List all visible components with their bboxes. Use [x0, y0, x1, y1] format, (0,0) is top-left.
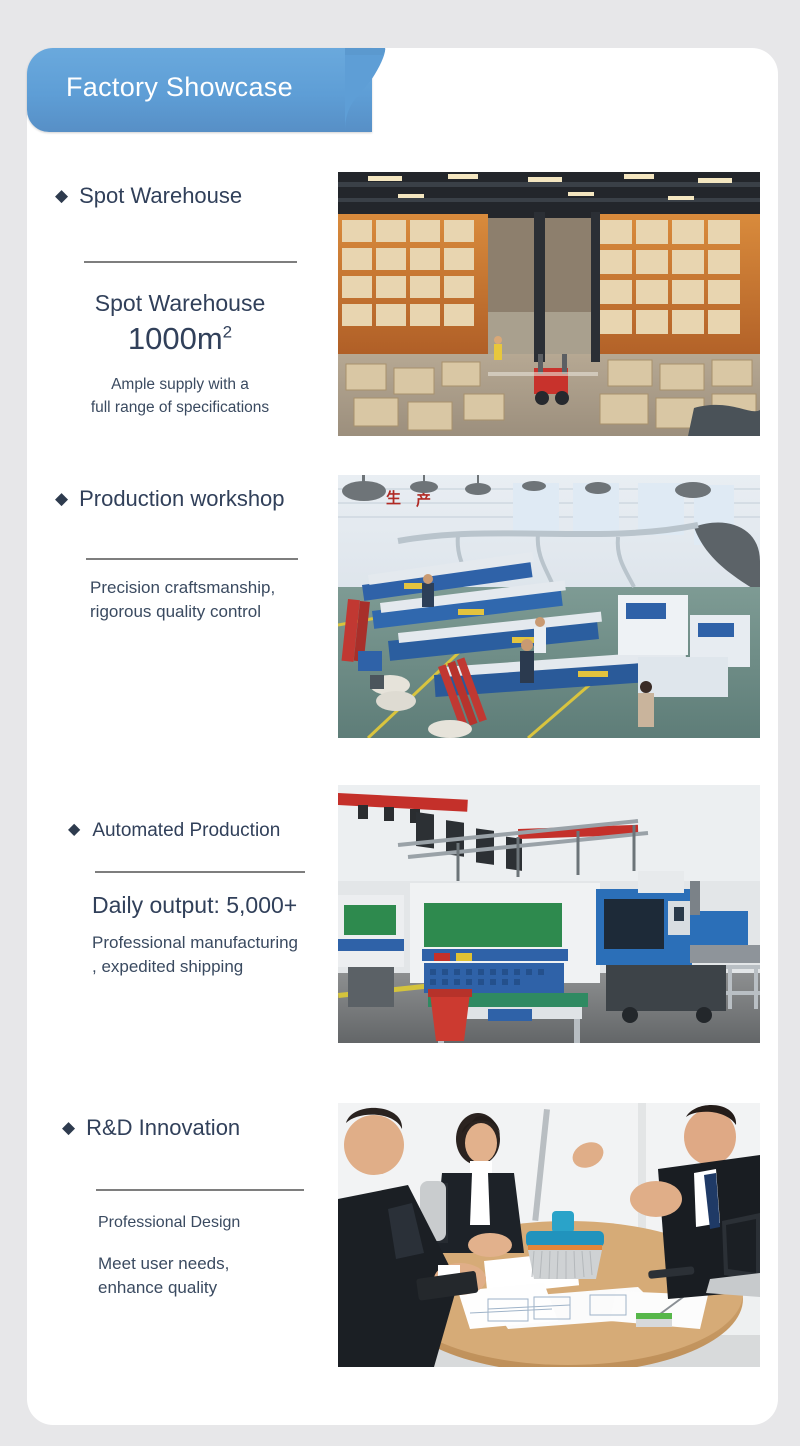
stat-label: Spot Warehouse [40, 289, 320, 317]
section-automated-production: ◆ Automated Production [68, 820, 348, 842]
section-heading-label: R&D Innovation [86, 1115, 240, 1141]
section-heading-row: ◆ Spot Warehouse [55, 183, 315, 209]
stat-label: Professional Design [98, 1211, 348, 1234]
banner-curve-tail [345, 48, 413, 132]
section-production-workshop-body: Precision craftsmanship, rigorous qualit… [90, 576, 330, 624]
spot-warehouse-photo [338, 172, 760, 436]
automated-production-photo [338, 785, 760, 1043]
section-rd-innovation-body: Professional Design Meet user needs, enh… [98, 1211, 348, 1300]
diamond-bullet-icon: ◆ [62, 1119, 75, 1136]
section-divider [95, 871, 305, 873]
section-rd-innovation: ◆ R&D Innovation [62, 1115, 352, 1141]
description-line-1: Meet user needs, [98, 1252, 348, 1276]
stat-label: Daily output: 5,000+ [92, 891, 342, 919]
section-divider [84, 261, 297, 263]
section-divider [96, 1189, 304, 1191]
section-automated-production-body: Daily output: 5,000+ Professional manufa… [92, 891, 342, 979]
production-workshop-photo: 生产 [338, 475, 760, 738]
page-title: Factory Showcase [66, 72, 293, 103]
description-line-2: enhance quality [98, 1276, 348, 1300]
section-heading-row: ◆ Automated Production [68, 820, 348, 842]
section-heading-label: Production workshop [79, 486, 284, 512]
section-heading-label: Automated Production [92, 820, 280, 842]
diamond-bullet-icon: ◆ [68, 822, 80, 838]
description-line-1: Precision craftsmanship, [90, 576, 330, 600]
description-line-1: Professional manufacturing [92, 931, 342, 955]
stat-value: 1000m2 [40, 320, 320, 357]
factory-showcase-page: Factory Showcase ◆ Spot Warehouse Spot W… [0, 0, 800, 1446]
stat-number: 1000m [128, 321, 223, 356]
rd-innovation-photo [338, 1103, 760, 1367]
diamond-bullet-icon: ◆ [55, 187, 68, 204]
section-heading-row: ◆ R&D Innovation [62, 1115, 352, 1141]
description-line-2: , expedited shipping [92, 955, 342, 979]
description-line-2: rigorous quality control [90, 600, 330, 624]
svg-text:产: 产 [416, 491, 431, 509]
section-production-workshop: ◆ Production workshop [55, 486, 335, 512]
section-spot-warehouse: ◆ Spot Warehouse [55, 183, 315, 209]
stat-unit-superscript: 2 [223, 323, 232, 342]
description-line-2: full range of specifications [40, 397, 320, 419]
description-line-1: Ample supply with a [40, 374, 320, 396]
section-heading-label: Spot Warehouse [79, 183, 242, 209]
diamond-bullet-icon: ◆ [55, 490, 68, 507]
section-heading-row: ◆ Production workshop [55, 486, 335, 512]
svg-text:生: 生 [386, 489, 401, 507]
section-divider [86, 558, 298, 560]
section-spot-warehouse-body: Spot Warehouse 1000m2 Ample supply with … [40, 289, 320, 419]
